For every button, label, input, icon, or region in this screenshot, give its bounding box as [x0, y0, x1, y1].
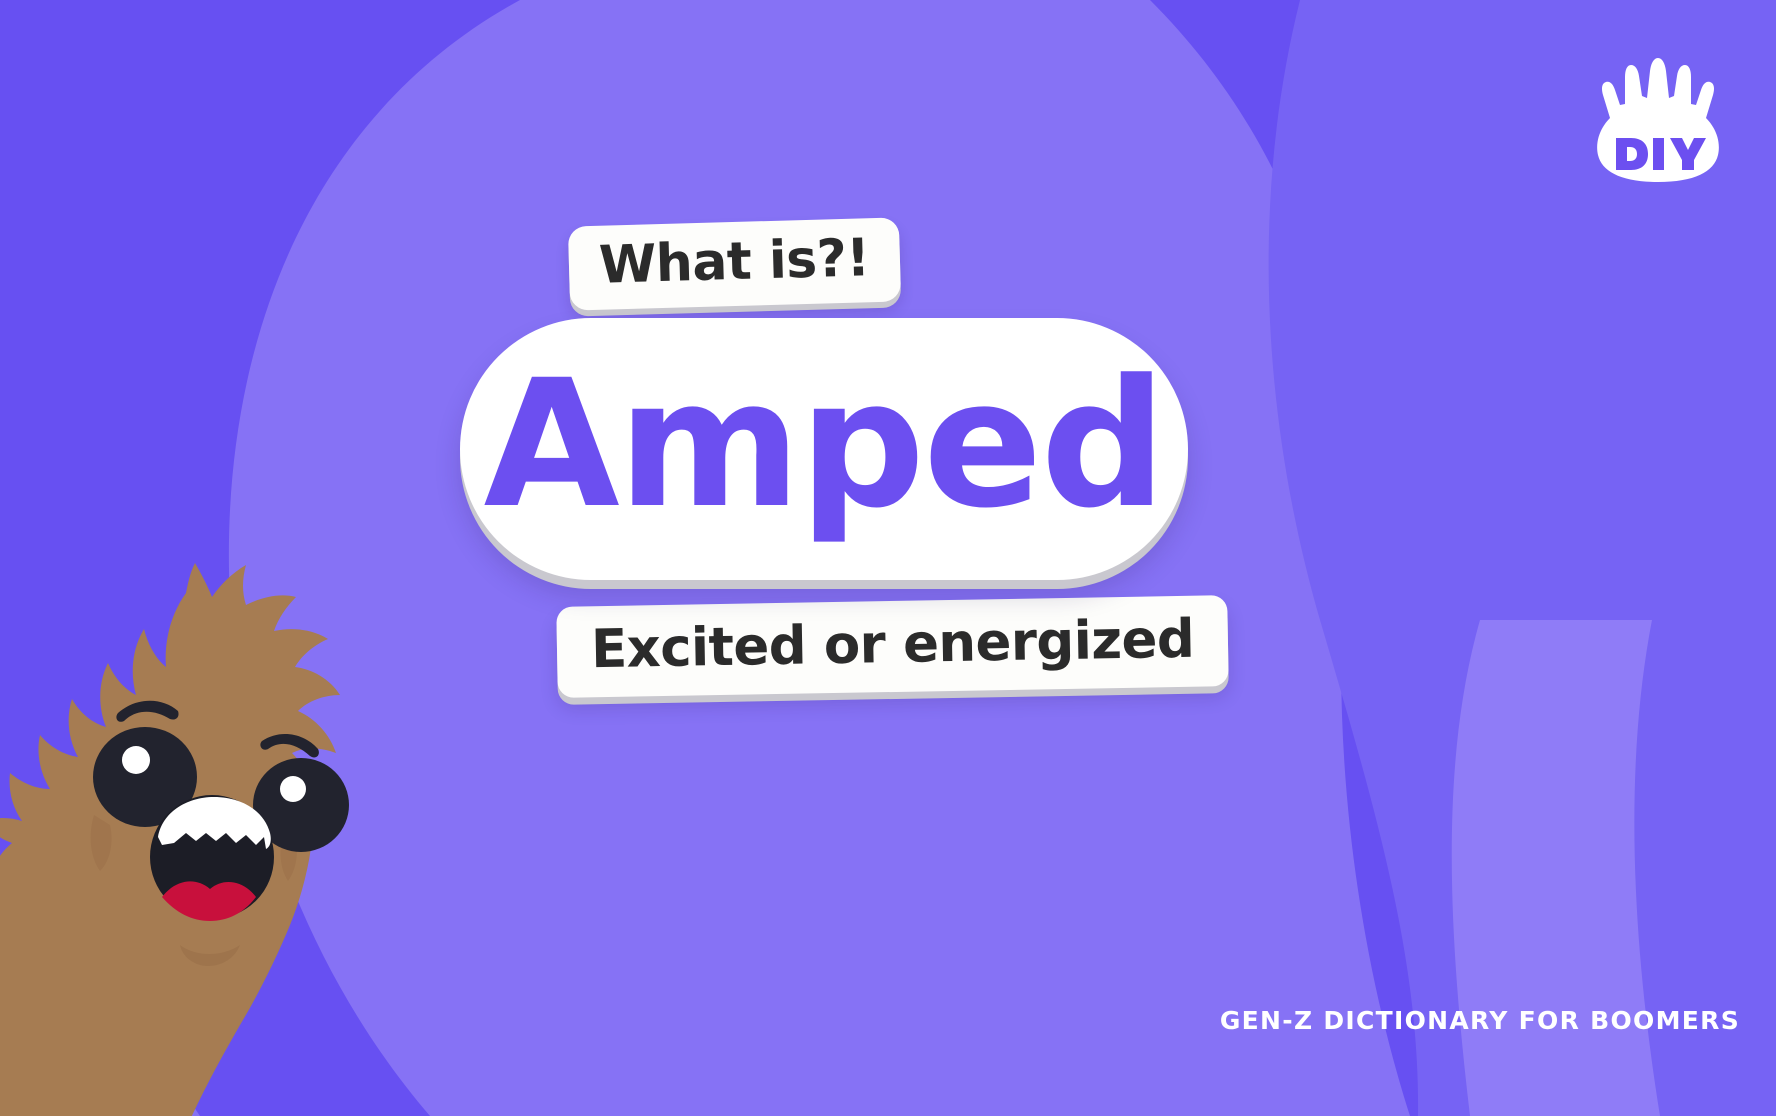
- poster-canvas: What is?! Amped Excited or energized: [0, 0, 1776, 1116]
- blob-light-right: [1452, 620, 1660, 1116]
- what-is-badge[interactable]: What is?!: [568, 217, 901, 310]
- diy-logo[interactable]: [1588, 52, 1728, 184]
- what-is-label: What is?!: [598, 232, 870, 292]
- paw-crown-icon: [1588, 52, 1728, 184]
- definition-label: Excited or energized: [591, 613, 1195, 677]
- series-title: GEN-Z DICTIONARY FOR BOOMERS: [1220, 1006, 1740, 1035]
- term-label: Amped: [484, 357, 1165, 533]
- furry-mascot: [0, 545, 420, 1116]
- mascot-illustration: [0, 545, 420, 1116]
- definition-badge[interactable]: Excited or energized: [556, 595, 1229, 698]
- term-pill[interactable]: Amped: [460, 318, 1188, 580]
